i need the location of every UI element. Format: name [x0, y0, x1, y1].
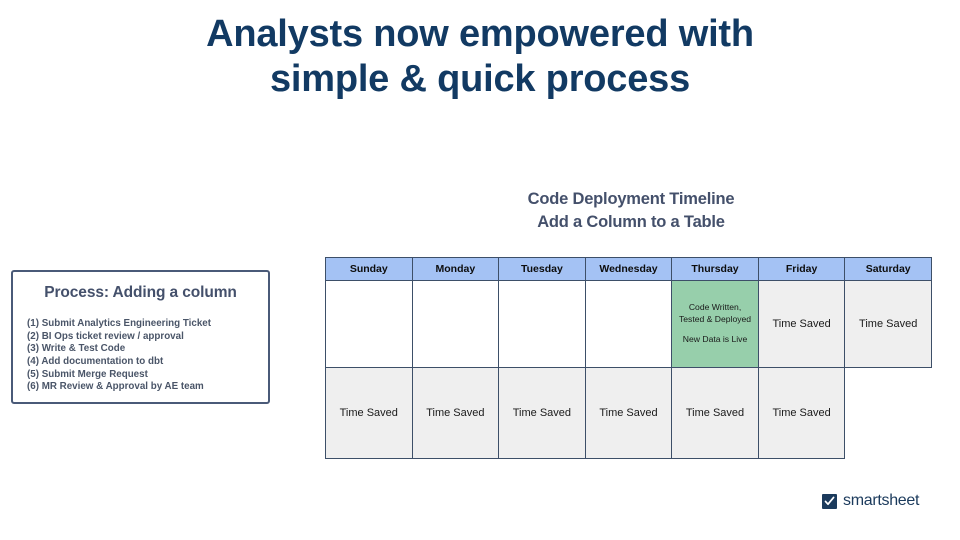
cell-monday-week1 — [412, 281, 499, 368]
column-header-monday: Monday — [412, 258, 499, 281]
cell-sunday-week2: Time Saved — [326, 368, 413, 459]
process-step-list: (1) Submit Analytics Engineering Ticket … — [27, 318, 254, 394]
check-box-icon — [822, 494, 837, 509]
page-title: Analysts now empowered with simple & qui… — [130, 12, 830, 102]
list-item: (5) Submit Merge Request — [27, 369, 254, 382]
cell-wednesday-week2: Time Saved — [585, 368, 672, 459]
column-header-saturday: Saturday — [845, 258, 932, 281]
cell-friday-week1: Time Saved — [758, 281, 845, 368]
cell-thursday-week2: Time Saved — [672, 368, 759, 459]
process-box: Process: Adding a column (1) Submit Anal… — [11, 270, 270, 404]
cell-sunday-week1 — [326, 281, 413, 368]
smartsheet-wordmark: smartsheet — [843, 492, 919, 510]
list-item: (2) BI Ops ticket review / approval — [27, 331, 254, 344]
table-header-row: Sunday Monday Tuesday Wednesday Thursday… — [326, 258, 932, 281]
column-header-tuesday: Tuesday — [499, 258, 586, 281]
process-box-title: Process: Adding a column — [27, 284, 254, 302]
cell-thursday-deploy-text: Code Written, Tested & Deployed — [679, 302, 751, 323]
table-row: Code Written, Tested & Deployed New Data… — [326, 281, 932, 368]
cell-tuesday-week2: Time Saved — [499, 368, 586, 459]
column-header-friday: Friday — [758, 258, 845, 281]
page-title-line-2: simple & quick process — [130, 57, 830, 102]
cell-tuesday-week1 — [499, 281, 586, 368]
list-item: (6) MR Review & Approval by AE team — [27, 381, 254, 394]
cell-saturday-week2 — [845, 368, 932, 459]
column-header-thursday: Thursday — [672, 258, 759, 281]
column-header-wednesday: Wednesday — [585, 258, 672, 281]
list-item: (1) Submit Analytics Engineering Ticket — [27, 318, 254, 331]
cell-saturday-week1: Time Saved — [845, 281, 932, 368]
cell-thursday-week1: Code Written, Tested & Deployed New Data… — [672, 281, 759, 368]
cell-friday-week2: Time Saved — [758, 368, 845, 459]
list-item: (3) Write & Test Code — [27, 343, 254, 356]
timeline-heading: Code Deployment Timeline Add a Column to… — [393, 188, 869, 234]
page-title-line-1: Analysts now empowered with — [130, 12, 830, 57]
timeline-heading-line-1: Code Deployment Timeline — [393, 188, 869, 211]
timeline-heading-line-2: Add a Column to a Table — [393, 211, 869, 234]
table-row: Time Saved Time Saved Time Saved Time Sa… — [326, 368, 932, 459]
cell-thursday-live-text: New Data is Live — [675, 334, 755, 345]
cell-wednesday-week1 — [585, 281, 672, 368]
list-item: (4) Add documentation to dbt — [27, 356, 254, 369]
column-header-sunday: Sunday — [326, 258, 413, 281]
cell-monday-week2: Time Saved — [412, 368, 499, 459]
smartsheet-logo: smartsheet — [822, 492, 919, 510]
code-deployment-timeline-table: Sunday Monday Tuesday Wednesday Thursday… — [325, 257, 932, 459]
